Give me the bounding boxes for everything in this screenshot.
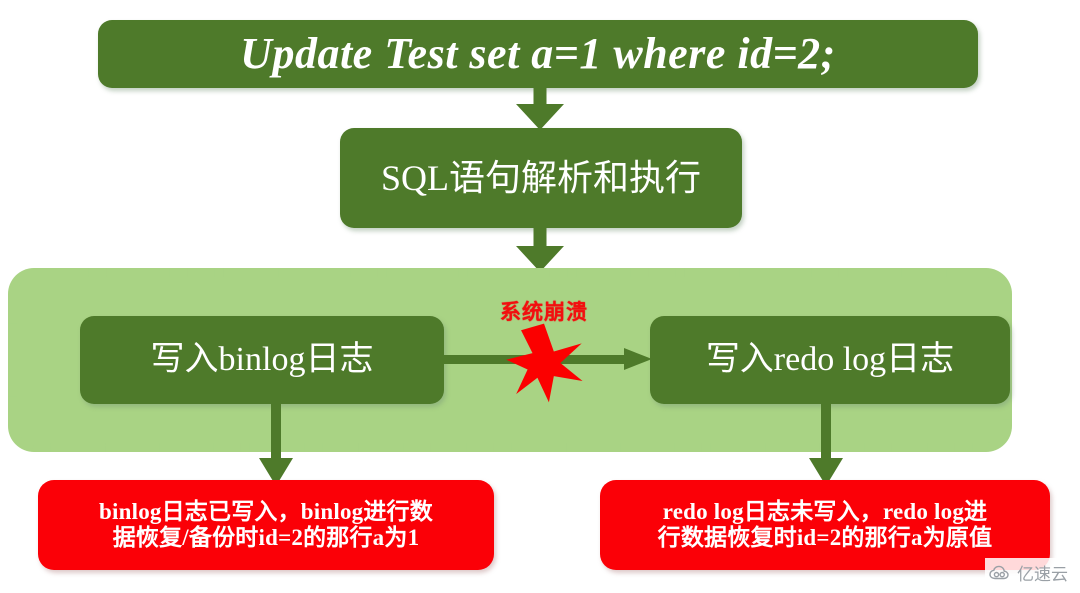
redolog-result-line-1: redo log日志未写入，redo log进 <box>663 499 987 525</box>
arrow-binlog-to-result-icon <box>248 402 304 486</box>
arrow-head <box>624 348 652 370</box>
sql-parse-execute-text: SQL语句解析和执行 <box>381 158 701 198</box>
sql-parse-execute-box: SQL语句解析和执行 <box>340 128 742 228</box>
binlog-result-box: binlog日志已写入，binlog进行数 据恢复/备份时id=2的那行a为1 <box>38 480 494 570</box>
write-binlog-box: 写入binlog日志 <box>80 316 444 404</box>
arrow-shaft <box>271 402 281 464</box>
redolog-result-line-2: 行数据恢复时id=2的那行a为原值 <box>658 525 993 551</box>
arrow-shaft <box>534 228 547 248</box>
write-redolog-text: 写入redo log日志 <box>706 341 954 379</box>
write-redolog-box: 写入redo log日志 <box>650 316 1010 404</box>
arrow-title-to-sql-parse-icon <box>508 88 572 130</box>
sql-statement-box: Update Test set a=1 where id=2; <box>98 20 978 88</box>
arrow-head <box>516 104 564 130</box>
arrow-shaft <box>821 402 831 464</box>
arrow-redolog-to-result-icon <box>798 402 854 486</box>
redolog-result-box: redo log日志未写入，redo log进 行数据恢复时id=2的那行a为原… <box>600 480 1050 570</box>
explosion-star-icon <box>498 322 590 404</box>
write-binlog-text: 写入binlog日志 <box>151 341 374 379</box>
watermark-text: 亿速云 <box>1017 560 1068 585</box>
watermark: 亿速云 <box>985 558 1074 587</box>
diagram-canvas: Update Test set a=1 where id=2; SQL语句解析和… <box>0 0 1080 593</box>
binlog-result-line-2: 据恢复/备份时id=2的那行a为1 <box>113 525 420 551</box>
cloud-logo-icon <box>989 565 1013 581</box>
sql-statement-text: Update Test set a=1 where id=2; <box>240 29 836 78</box>
binlog-result-line-1: binlog日志已写入，binlog进行数 <box>99 499 433 525</box>
